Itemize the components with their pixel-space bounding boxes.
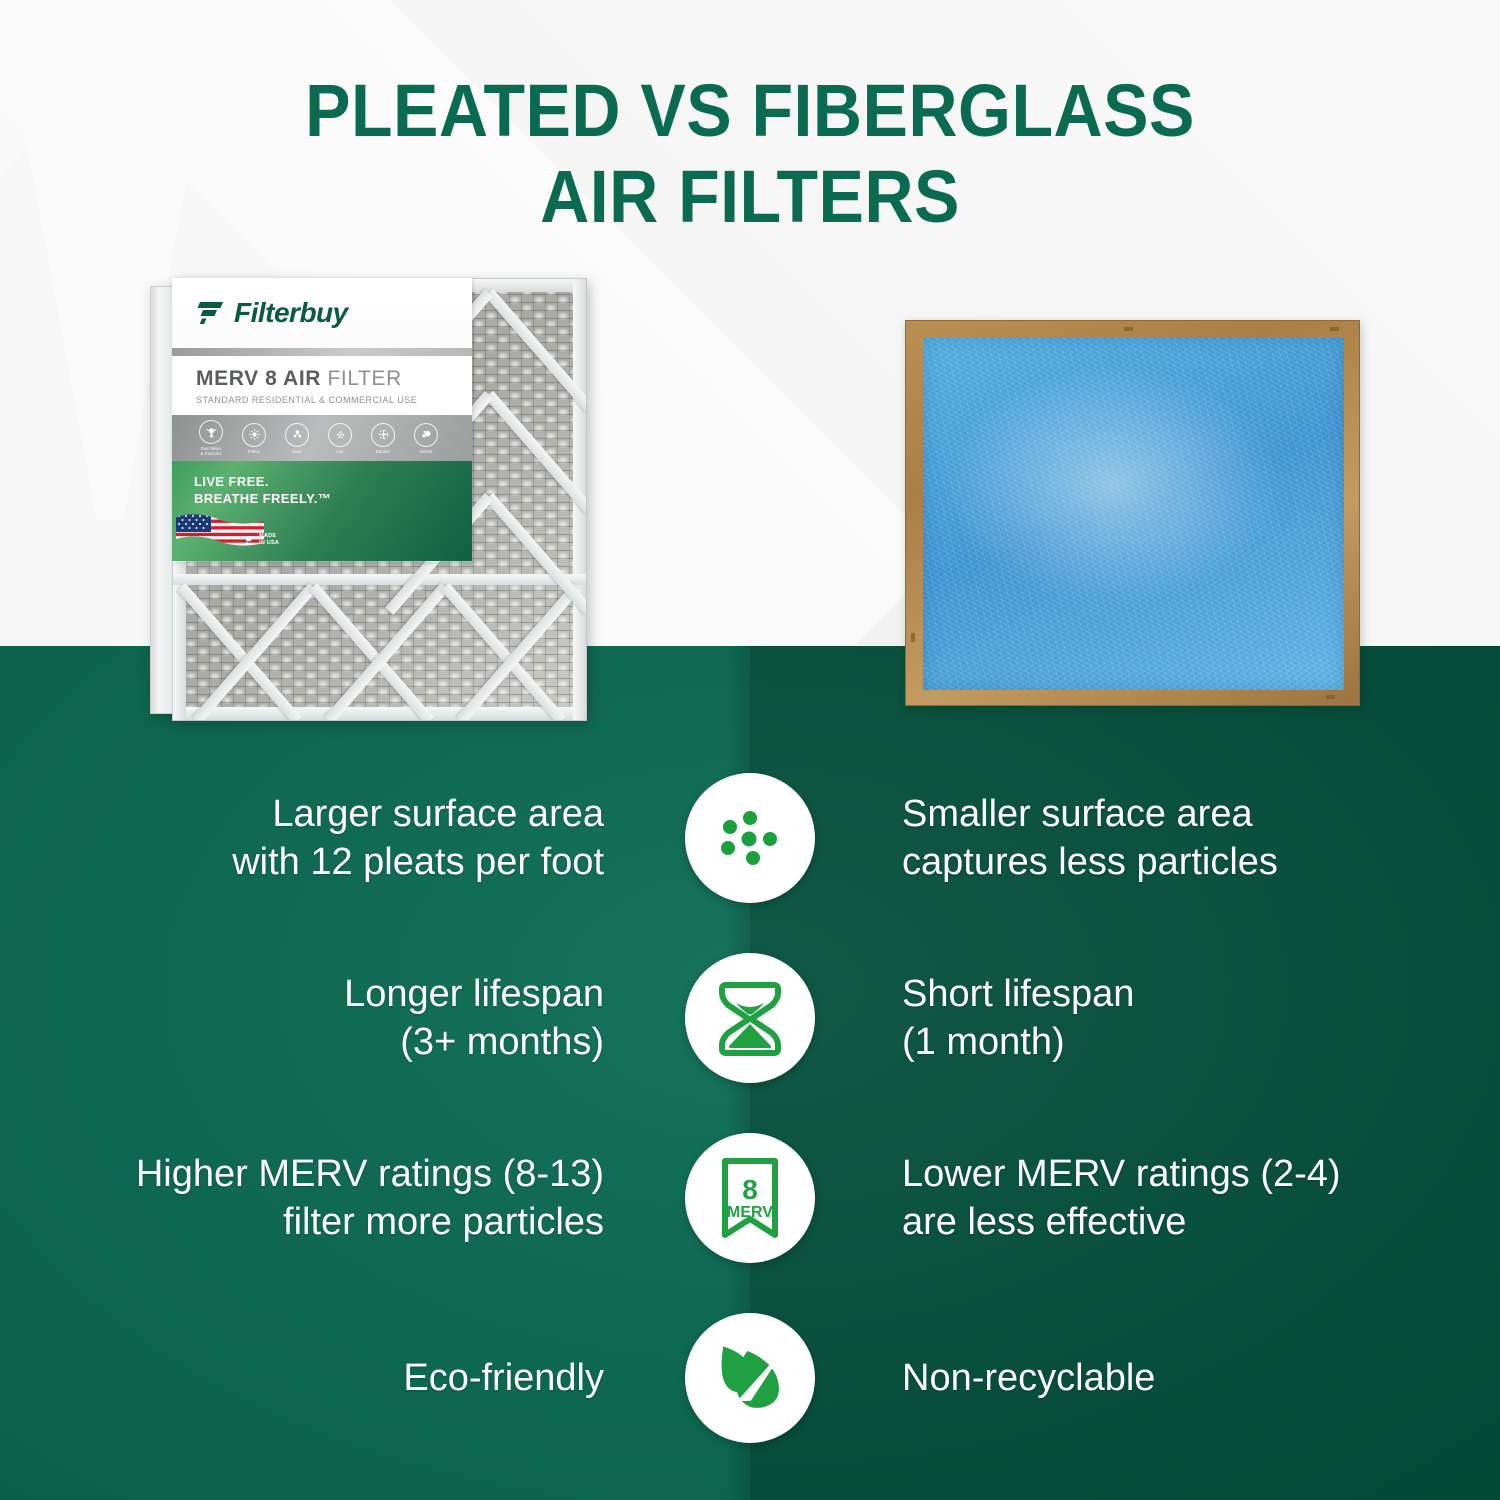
row-left-line-2: (3+ months) (0, 1018, 604, 1066)
dander-icon (371, 423, 395, 447)
comparison-row: Longer lifespan (3+ months) Short lifesp… (0, 938, 1500, 1098)
capture-icon-label: Pollen (248, 449, 260, 454)
brand-name: Filterbuy (234, 297, 348, 329)
capture-icon-label: Dust Mites& Particles (200, 446, 221, 456)
merv-title: MERV 8 AIR FILTER (196, 367, 472, 391)
made-in-usa-line-1: MADE (259, 533, 279, 540)
row-icon-slot (640, 773, 860, 903)
hourglass-icon (685, 953, 815, 1083)
comparison-row: Larger surface area with 12 pleats per f… (0, 758, 1500, 918)
merv-subtitle: STANDARD RESIDENTIAL & COMMERCIAL USE (196, 395, 472, 405)
capture-icons-row: Dust Mites& Particles Pollen Mold (172, 415, 472, 461)
row-right-text: Lower MERV ratings (2-4) are less effect… (860, 1150, 1500, 1246)
capture-icon-item: Debris (407, 423, 445, 454)
lint-icon (328, 423, 352, 447)
merv-title-strong: MERV 8 AIR (196, 367, 321, 390)
brand-row: Filterbuy (172, 278, 472, 348)
row-right-line-2: captures less particles (902, 838, 1500, 886)
capture-icon-label: Mold (292, 449, 301, 454)
row-left-line-1: Longer lifespan (0, 970, 604, 1018)
merv-badge-label: MERV (727, 1204, 773, 1221)
row-right-line-2: are less effective (902, 1198, 1500, 1246)
row-right-line-1: Lower MERV ratings (2-4) (902, 1150, 1500, 1198)
row-right-text: Short lifespan (1 month) (860, 970, 1500, 1066)
fiberglass-staple-top (1124, 327, 1133, 331)
row-icon-slot (640, 953, 860, 1083)
page-title: PLEATED VS FIBERGLASS AIR FILTERS (0, 68, 1500, 240)
row-right-line-2: (1 month) (902, 1018, 1500, 1066)
row-left-text: Longer lifespan (3+ months) (0, 970, 640, 1066)
comparison-row: Higher MERV ratings (8-13) filter more p… (0, 1118, 1500, 1278)
tagline-panel: LIVE FREE. BREATHE FREELY.™ (172, 461, 472, 561)
fiberglass-staple-top-right (1330, 327, 1339, 331)
capture-icon-label: Dander (376, 449, 390, 454)
row-right-line-1: Non-recyclable (902, 1354, 1500, 1402)
row-left-text: Eco-friendly (0, 1354, 640, 1402)
capture-icon-label: Debris (420, 449, 433, 454)
label-divider (172, 348, 472, 356)
row-icon-slot (640, 1313, 860, 1443)
page-title-line-1: PLEATED VS FIBERGLASS (60, 68, 1440, 154)
pleated-frame-mid (173, 574, 586, 585)
row-right-text: Non-recyclable (860, 1354, 1500, 1402)
row-left-line-1: Higher MERV ratings (8-13) (0, 1150, 604, 1198)
merv-badge-number: 8 (742, 1174, 758, 1205)
capture-icon-item: Lint (321, 423, 359, 454)
capture-icon-item: Mold (278, 423, 316, 454)
row-right-line-1: Smaller surface area (902, 790, 1500, 838)
row-left-text: Larger surface area with 12 pleats per f… (0, 790, 640, 886)
row-left-text: Higher MERV ratings (8-13) filter more p… (0, 1150, 640, 1246)
row-left-line-2: with 12 pleats per foot (0, 838, 604, 886)
merv-badge-icon: 8 MERV (685, 1133, 815, 1263)
row-left-line-1: Eco-friendly (0, 1354, 604, 1402)
capture-icon-item: Pollen (235, 423, 273, 454)
page-title-line-2: AIR FILTERS (60, 154, 1440, 240)
merv-title-light: FILTER (327, 367, 401, 390)
pleated-filter-label: Filterbuy MERV 8 AIR FILTER STANDARD RES… (172, 278, 472, 562)
fiberglass-staple-left (911, 633, 915, 642)
capture-icon-item: Dust Mites& Particles (192, 420, 230, 456)
capture-icon-item: Dander (364, 423, 402, 454)
comparison-rows: Larger surface area with 12 pleats per f… (0, 646, 1500, 1500)
capture-icon-label: Lint (336, 449, 343, 454)
made-in-usa-line-2: IN USA (259, 540, 279, 547)
row-right-line-1: Short lifespan (902, 970, 1500, 1018)
row-icon-slot: 8 MERV (640, 1133, 860, 1263)
pollen-icon (242, 423, 266, 447)
filterbuy-logo-icon (196, 299, 226, 327)
debris-icon (414, 423, 438, 447)
dust-mites-icon (199, 420, 223, 444)
merv-row: MERV 8 AIR FILTER STANDARD RESIDENTIAL &… (172, 356, 472, 415)
tagline-line-2: BREATHE FREELY.™ (194, 490, 472, 507)
tagline-line-1: LIVE FREE. (194, 473, 472, 490)
mold-icon (285, 423, 309, 447)
filterbuy-mark-small-icon (244, 535, 255, 545)
row-right-text: Smaller surface area captures less parti… (860, 790, 1500, 886)
comparison-row: Eco-friendly Non-recyclable (0, 1298, 1500, 1458)
infographic-page: PLEATED VS FIBERGLASS AIR FILTERS (0, 0, 1500, 1500)
particles-icon (685, 773, 815, 903)
row-left-line-1: Larger surface area (0, 790, 604, 838)
leaf-icon (685, 1313, 815, 1443)
fiberglass-filter-media (923, 338, 1344, 690)
made-in-usa-badge: MADE IN USA (244, 533, 279, 547)
row-left-line-2: filter more particles (0, 1198, 604, 1246)
